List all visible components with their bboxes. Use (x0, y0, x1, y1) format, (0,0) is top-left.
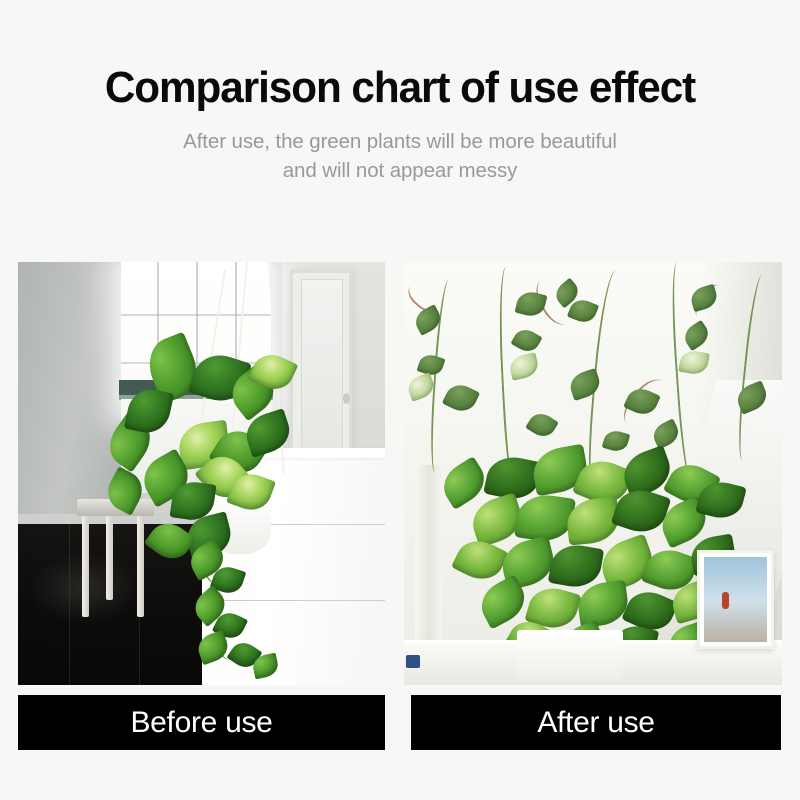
comparison-infographic: Comparison chart of use effect After use… (0, 0, 800, 800)
plant-stand-leg (106, 516, 113, 601)
page-title: Comparison chart of use effect (16, 0, 784, 114)
comparison-grid: Before use (18, 262, 782, 752)
picture-frame-photo (704, 557, 768, 642)
room-scene (18, 262, 385, 685)
plant-leaf (451, 533, 509, 587)
plant-leaf (436, 456, 492, 510)
picture-frame (697, 550, 775, 649)
white-plant-pot (517, 630, 623, 681)
caption-after-use: After use (411, 695, 781, 750)
window-mullion (121, 314, 271, 316)
plant-stand-leg (82, 516, 89, 618)
plant-leaf (575, 580, 630, 629)
subtitle-line-1: After use, the green plants will be more… (0, 127, 800, 156)
door-knob-icon (343, 393, 350, 404)
panel-after: After use (404, 262, 782, 752)
subtitle-line-2: and will not appear messy (0, 156, 800, 185)
wall-scene (404, 262, 782, 685)
plant-stand-leg (137, 516, 144, 618)
photo-before-use (18, 262, 385, 685)
header: Comparison chart of use effect After use… (0, 0, 800, 185)
photo-after-use (404, 262, 782, 685)
decor-object (406, 655, 420, 668)
panel-before: Before use (18, 262, 385, 752)
vine-leaf (650, 418, 683, 449)
page-subtitle: After use, the green plants will be more… (0, 114, 800, 185)
vine-leaf (525, 409, 559, 441)
decor-object (722, 592, 729, 609)
caption-before-use: Before use (18, 695, 385, 750)
